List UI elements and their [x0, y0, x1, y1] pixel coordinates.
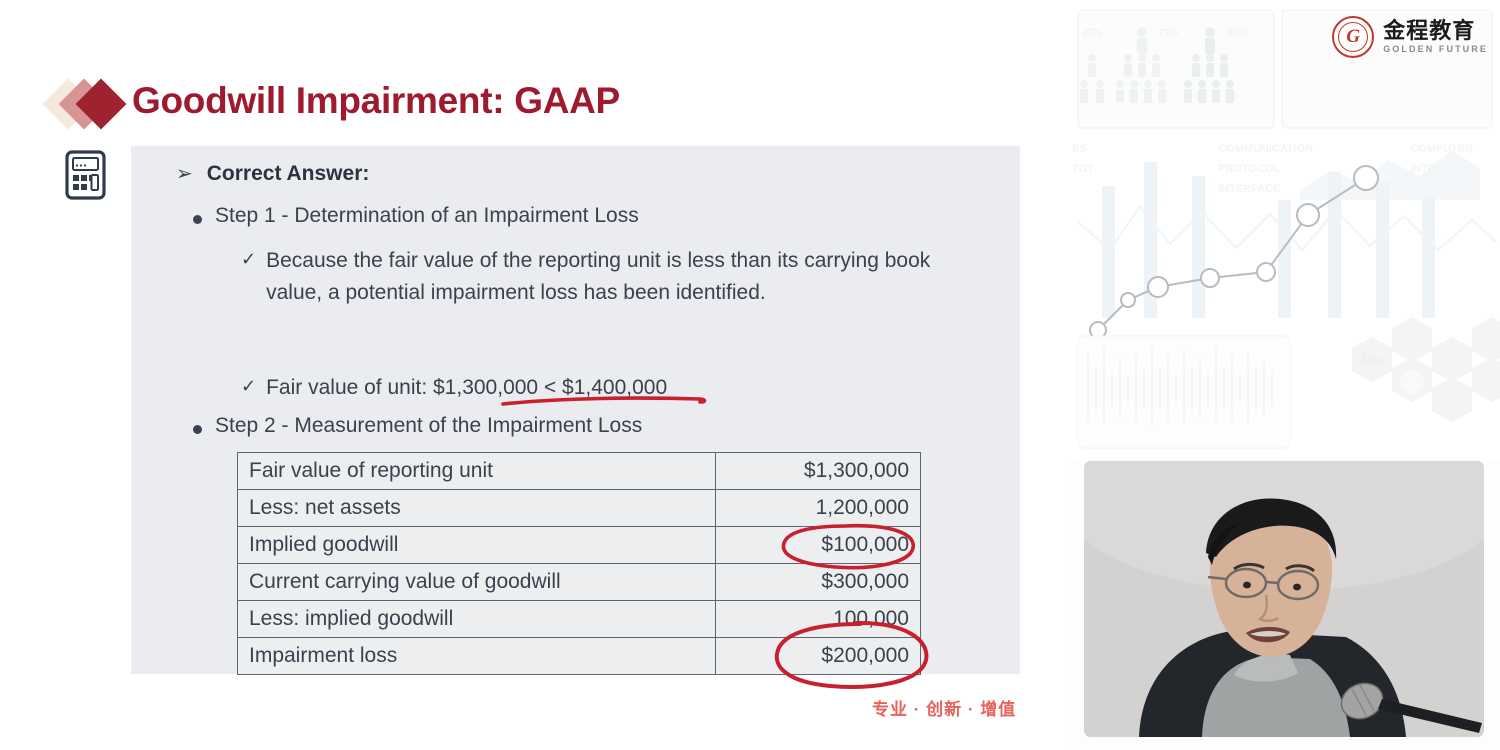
step-1-paragraph-row: ✓ Because the fair value of the reportin… [241, 245, 941, 309]
step-1-row: Step 1 - Determination of an Impairment … [193, 204, 639, 228]
svg-text:INTERFACE: INTERFACE [1410, 163, 1472, 175]
step-1-paragraph: Because the fair value of the reporting … [266, 245, 941, 309]
step-2-heading: Step 2 - Measurement of the Impairment L… [215, 414, 642, 438]
table-row: Less: implied goodwill 100,000 [238, 601, 921, 638]
arrow-bullet-icon: ➢ [176, 164, 193, 184]
dot-bullet-icon [193, 425, 202, 434]
table-cell-value: 100,000 [716, 601, 921, 638]
svg-text:85%: 85% [1228, 28, 1248, 39]
instructor-video-feed[interactable] [1084, 461, 1484, 737]
seal-letter: G [1334, 18, 1372, 56]
brand-text: 金程教育 GOLDEN FUTURE [1383, 20, 1488, 54]
svg-text:47%: 47% [1082, 28, 1102, 39]
brand-name-en: GOLDEN FUTURE [1383, 45, 1488, 54]
svg-text:INTERFACE: INTERFACE [1218, 183, 1280, 195]
seal-logo-icon: G [1332, 16, 1374, 58]
slide-title: Goodwill Impairment: GAAP [132, 80, 620, 122]
svg-text:40s: 40s [1360, 351, 1384, 367]
step-1-heading: Step 1 - Determination of an Impairment … [215, 204, 639, 228]
decorative-infographic: 47% 73% 85% ES TOT COMMUNICATION PROTOCO… [1070, 0, 1500, 460]
svg-text:73%: 73% [1158, 28, 1178, 39]
svg-text:PROTOCOL: PROTOCOL [1218, 163, 1280, 175]
correct-answer-row: ➢ Correct Answer: [176, 162, 369, 186]
table-cell-value: $200,000 [716, 638, 921, 675]
table-cell-value: $300,000 [716, 564, 921, 601]
table-cell-label: Less: implied goodwill [238, 601, 716, 638]
svg-text:COMPUTER: COMPUTER [1410, 143, 1473, 155]
slide-area: Goodwill Impairment: GAAP ➢ Correct Answ… [0, 0, 1070, 750]
correct-answer-label: Correct Answer: [207, 162, 370, 186]
diamond-logo-icon [50, 78, 128, 130]
check-mark-icon: ✓ [241, 376, 256, 397]
svg-text:ES: ES [1072, 143, 1087, 155]
table-cell-label: Current carrying value of goodwill [238, 564, 716, 601]
tagline: 专业 · 创新 · 增值 [872, 695, 1016, 720]
table-row: Current carrying value of goodwill $300,… [238, 564, 921, 601]
content-panel: ➢ Correct Answer: Step 1 - Determination… [131, 146, 1020, 674]
step-1-comparison-row: ✓ Fair value of unit: $1,300,000 < $1,40… [241, 372, 667, 404]
right-panel: 47% 73% 85% ES TOT COMMUNICATION PROTOCO… [1070, 0, 1500, 750]
table-body: Fair value of reporting unit $1,300,000 … [238, 453, 921, 675]
brand-lockup: G 金程教育 GOLDEN FUTURE [1332, 16, 1488, 58]
dot-bullet-icon [193, 215, 202, 224]
check-mark-icon: ✓ [241, 249, 256, 270]
table-cell-value: $100,000 [716, 527, 921, 564]
table-row: Fair value of reporting unit $1,300,000 [238, 453, 921, 490]
step-1-comparison: Fair value of unit: $1,300,000 < $1,400,… [266, 372, 667, 404]
table-cell-label: Less: net assets [238, 490, 716, 527]
table-row: Less: net assets 1,200,000 [238, 490, 921, 527]
impairment-table: Fair value of reporting unit $1,300,000 … [237, 452, 921, 675]
calculator-icon [65, 150, 106, 200]
table-cell-label: Implied goodwill [238, 527, 716, 564]
svg-text:COMMUNICATION: COMMUNICATION [1218, 143, 1313, 155]
brand-name-cn: 金程教育 [1383, 20, 1488, 42]
svg-text:TOT: TOT [1072, 163, 1094, 175]
lecture-screen: Goodwill Impairment: GAAP ➢ Correct Answ… [0, 0, 1500, 750]
table-row: Implied goodwill $100,000 [238, 527, 921, 564]
table-cell-value: $1,300,000 [716, 453, 921, 490]
table-row: Impairment loss $200,000 [238, 638, 921, 675]
table-cell-value: 1,200,000 [716, 490, 921, 527]
step-2-row: Step 2 - Measurement of the Impairment L… [193, 414, 642, 438]
table-cell-label: Fair value of reporting unit [238, 453, 716, 490]
table-cell-label: Impairment loss [238, 638, 716, 675]
